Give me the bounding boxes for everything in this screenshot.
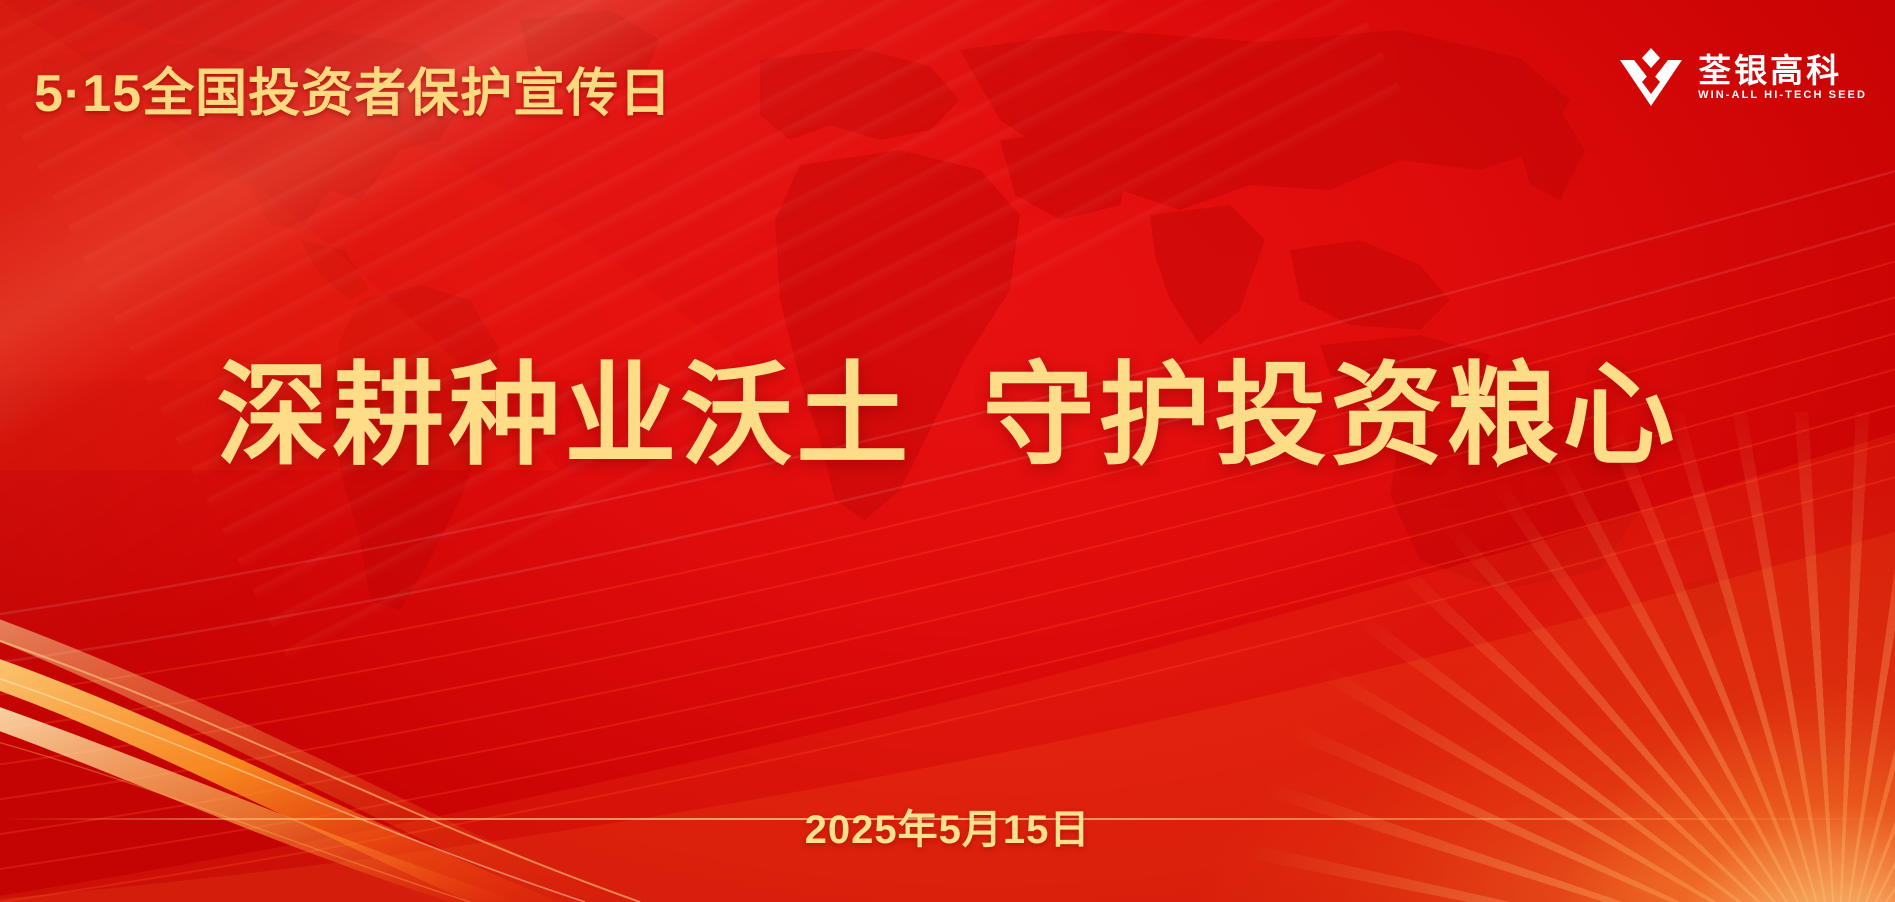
campaign-eyebrow-title: 5·15全国投资者保护宣传日 — [34, 51, 672, 126]
company-name-cn: 荃银高科 — [1698, 54, 1867, 87]
investor-protection-banner: 5·15全国投资者保护宣传日 荃银高科 WIN-ALL HI-TECH SEED… — [0, 0, 1895, 902]
company-name-en: WIN-ALL HI-TECH SEED — [1698, 90, 1867, 101]
event-date: 2025年5月15日 — [0, 797, 1895, 855]
company-logo: 荃银高科 WIN-ALL HI-TECH SEED — [1620, 48, 1867, 106]
win-all-chevron-logo-icon — [1620, 48, 1682, 106]
main-headline: 深耕种业沃土 守护投资粮心 — [0, 350, 1895, 482]
